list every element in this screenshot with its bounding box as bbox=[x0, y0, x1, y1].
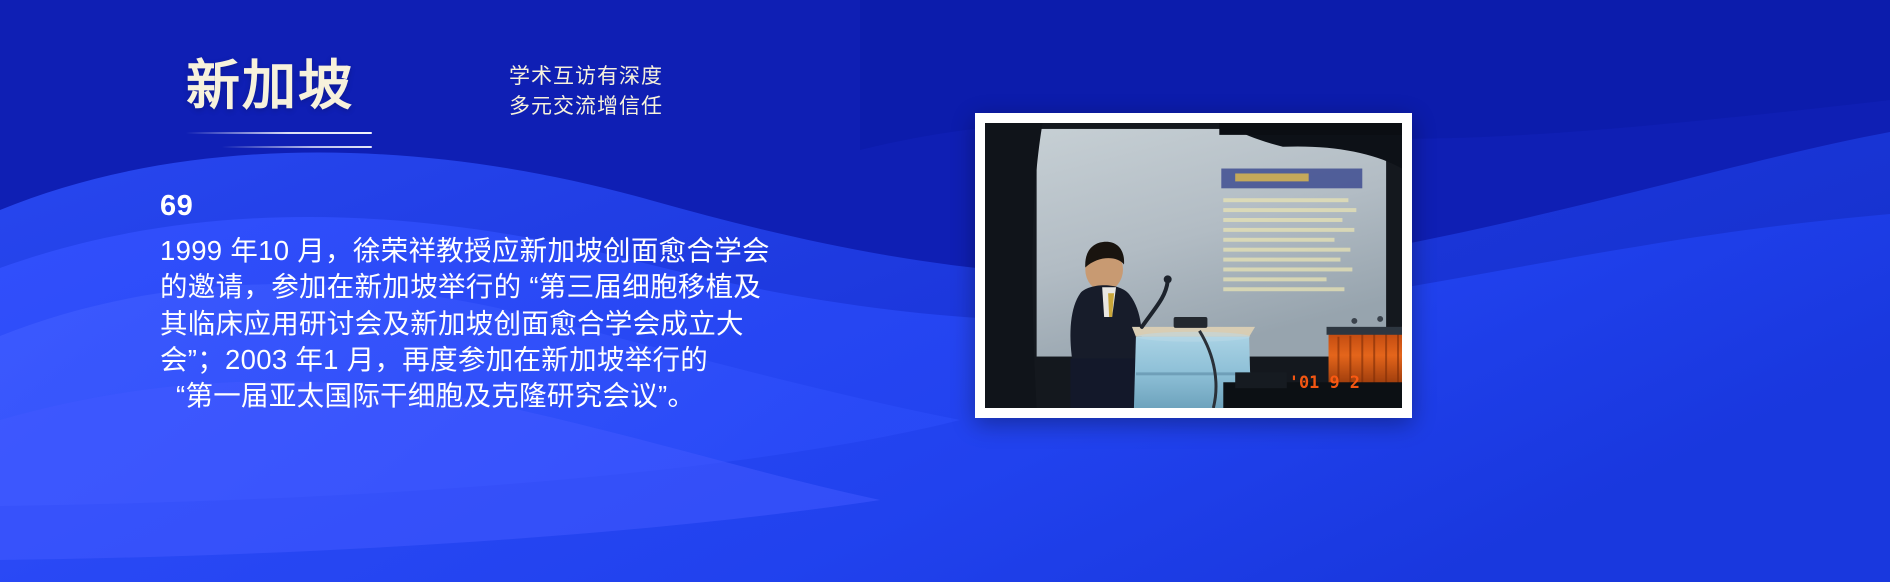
paragraph-line: 1999 年10 月，徐荣祥教授应新加坡创面愈合学会 bbox=[160, 233, 880, 269]
body-block: 69 1999 年10 月，徐荣祥教授应新加坡创面愈合学会 的邀请，参加在新加坡… bbox=[160, 192, 880, 414]
title-underline-primary bbox=[186, 132, 372, 134]
conference-photo: '01 9 2 bbox=[985, 123, 1402, 408]
title-underline-secondary bbox=[222, 146, 372, 148]
photo-date-stamp: '01 9 2 bbox=[1289, 372, 1360, 392]
title-block: 新加坡 bbox=[186, 58, 486, 115]
paragraph-line: 会”；2003 年1 月，再度参加在新加坡举行的 bbox=[160, 342, 880, 378]
subtitle-line-2: 多元交流增信任 bbox=[486, 92, 686, 122]
paragraph-line: 的邀请，参加在新加坡举行的 “第三届细胞移植及 bbox=[160, 269, 880, 305]
paragraph-line: 其临床应用研讨会及新加坡创面愈合学会成立大 bbox=[160, 306, 880, 342]
page-title: 新加坡 bbox=[186, 58, 486, 115]
slide-root: 新加坡 学术互访有深度 多元交流增信任 69 1999 年10 月，徐荣祥教授应… bbox=[0, 0, 1890, 582]
item-number: 69 bbox=[160, 192, 880, 221]
body-paragraph: 1999 年10 月，徐荣祥教授应新加坡创面愈合学会 的邀请，参加在新加坡举行的… bbox=[160, 233, 880, 414]
subtitle-block: 学术互访有深度 多元交流增信任 bbox=[486, 62, 686, 122]
photo-frame: '01 9 2 bbox=[975, 113, 1412, 418]
paragraph-line: “第一届亚太国际干细胞及克隆研究会议”。 bbox=[160, 378, 880, 414]
subtitle-line-1: 学术互访有深度 bbox=[486, 62, 686, 92]
